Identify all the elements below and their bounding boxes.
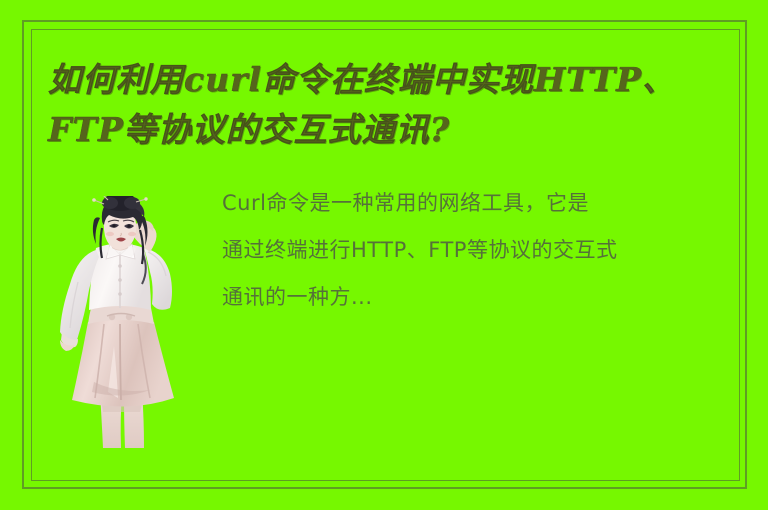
anime-girl-illustration xyxy=(44,196,196,448)
excerpt-line-3: 通讯的一种方... xyxy=(222,274,768,321)
title-line-1: 如何利用curl命令在终端中实现HTTP、 xyxy=(48,55,728,105)
page-title: 如何利用curl命令在终端中实现HTTP、 FTP等协议的交互式通讯? xyxy=(48,55,728,155)
excerpt-line-1: Curl命令是一种常用的网络工具，它是 xyxy=(222,180,768,227)
article-card: 如何利用curl命令在终端中实现HTTP、 FTP等协议的交互式通讯? Curl… xyxy=(0,0,768,510)
article-excerpt: Curl命令是一种常用的网络工具，它是 通过终端进行HTTP、FTP等协议的交互… xyxy=(222,180,768,321)
title-line-2: FTP等协议的交互式通讯? xyxy=(48,105,728,155)
excerpt-line-2: 通过终端进行HTTP、FTP等协议的交互式 xyxy=(222,227,768,274)
